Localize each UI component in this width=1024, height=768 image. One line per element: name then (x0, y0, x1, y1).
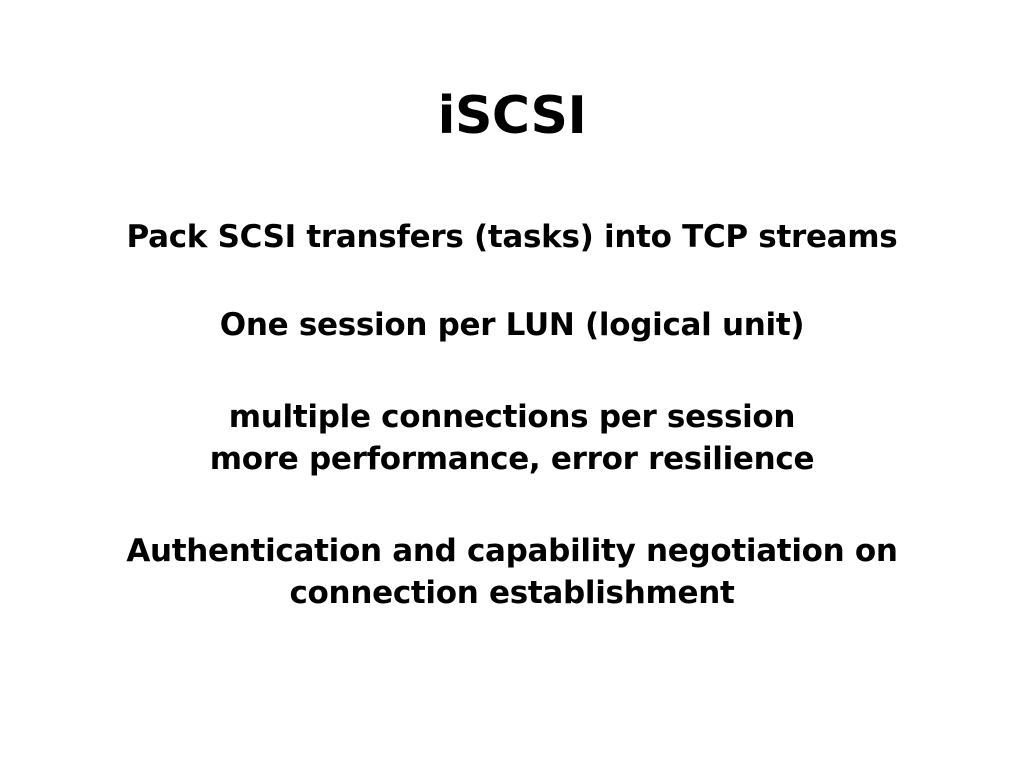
body-line: One session per LUN (logical unit) (0, 304, 1024, 346)
body-line: Authentication and capability negotiatio… (0, 530, 1024, 572)
body-paragraph-authentication-negotiation: Authentication and capability negotiatio… (0, 530, 1024, 614)
slide-canvas: iSCSI Pack SCSI transfers (tasks) into T… (0, 0, 1024, 768)
body-line: connection establishment (0, 572, 1024, 614)
body-paragraph-multiple-connections: multiple connections per session more pe… (0, 396, 1024, 480)
slide-title: iSCSI (0, 86, 1024, 146)
body-line: Pack SCSI transfers (tasks) into TCP str… (0, 216, 1024, 258)
body-line: multiple connections per session (0, 396, 1024, 438)
body-paragraph-pack-scsi-transfers: Pack SCSI transfers (tasks) into TCP str… (0, 216, 1024, 258)
body-paragraph-one-session-per-lun: One session per LUN (logical unit) (0, 304, 1024, 346)
body-line: more performance, error resilience (0, 438, 1024, 480)
